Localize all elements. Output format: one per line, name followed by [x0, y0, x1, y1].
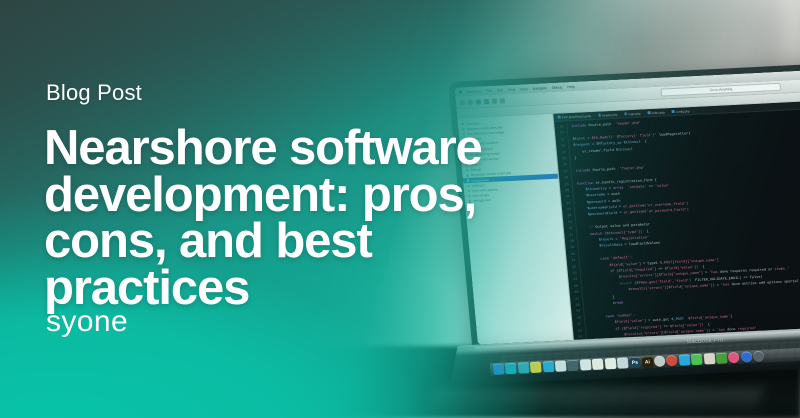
blog-post-hero-card: Brackets File Edit Find View Navigate De… — [0, 0, 800, 418]
page-title: Nearshore software development: pros, co… — [44, 125, 564, 311]
eyebrow-label: Blog Post — [46, 82, 142, 104]
hero-content: Blog Post Nearshore software development… — [0, 0, 800, 418]
brand-logo: syone — [46, 307, 128, 337]
